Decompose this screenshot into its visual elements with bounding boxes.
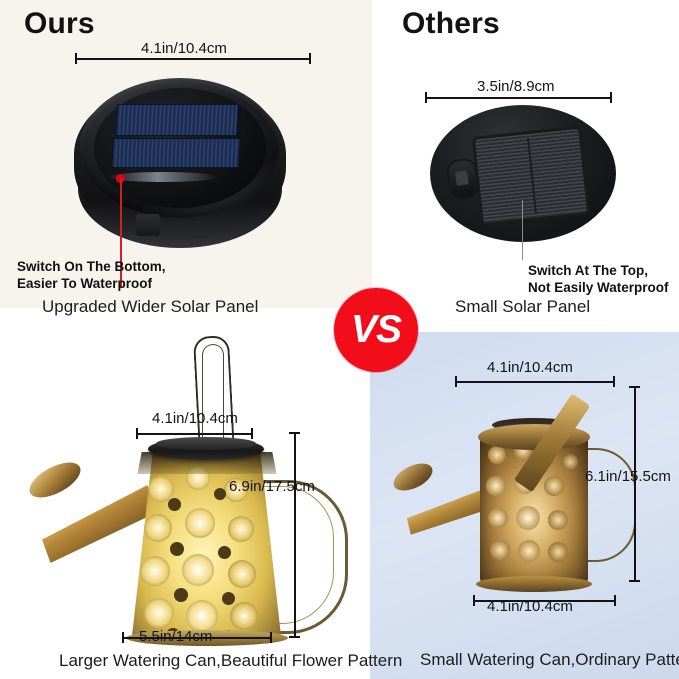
star-cutout	[168, 498, 181, 511]
flower-motif	[140, 556, 170, 586]
heading-ours: Ours	[24, 7, 95, 41]
watering-can-small-base	[476, 576, 592, 592]
callout-text-right-line2: Not Easily Waterproof	[528, 279, 669, 296]
dimension-bar	[75, 58, 311, 60]
dimension-label-can-small-top: 4.1in/10.4cm	[487, 359, 573, 376]
dimension-cap-right	[251, 428, 253, 439]
star-cutout	[170, 542, 184, 556]
callout-text-left-line1: Switch On The Bottom,	[17, 258, 166, 275]
lattice-motif	[490, 540, 510, 560]
heading-others: Others	[402, 7, 500, 41]
dimension-line-can-large-height	[289, 432, 300, 638]
dimension-cap-right	[270, 632, 272, 643]
flower-motif	[230, 602, 258, 630]
comparison-infographic: Ours Others 4.1in/10.4cm Switch On The B…	[0, 0, 679, 679]
flower-motif	[144, 514, 172, 542]
lattice-motif	[488, 446, 506, 464]
dimension-label-can-large-base: 5.5in/14cm	[139, 628, 212, 645]
watering-can-small-spout-head	[389, 458, 436, 496]
lattice-motif	[544, 476, 564, 496]
lattice-motif	[518, 540, 540, 562]
dimension-cap-right	[614, 595, 616, 606]
dimension-line-can-small-top	[455, 376, 615, 387]
lattice-motif	[486, 476, 506, 496]
dimension-cap-right	[613, 376, 615, 387]
lattice-motif	[488, 508, 508, 528]
flower-motif	[144, 598, 174, 628]
caption-upgraded-wider-solar-panel: Upgraded Wider Solar Panel	[42, 297, 258, 317]
lattice-motif	[562, 454, 578, 470]
dimension-label-solar-large-width: 4.1in/10.4cm	[141, 40, 227, 57]
star-cutout	[214, 488, 226, 500]
solar-cell-divider	[527, 138, 537, 214]
dimension-bar	[425, 97, 612, 99]
callout-text-left-line2: Easier To Waterproof	[17, 275, 166, 292]
callout-text-right-line1: Switch At The Top,	[528, 262, 669, 279]
dimension-bar	[294, 432, 296, 638]
solar-panel-large-bottom-notch	[136, 214, 160, 236]
dimension-bar	[455, 381, 615, 383]
watering-can-large-spout-head	[24, 455, 86, 504]
flower-motif	[182, 554, 214, 586]
dimension-cap-bottom	[629, 580, 640, 582]
flower-motif	[228, 516, 254, 542]
flower-motif	[228, 560, 256, 588]
dimension-cap-right	[309, 53, 311, 64]
caption-larger-watering-can: Larger Watering Can,Beautiful Flower Pat…	[59, 651, 402, 671]
dimension-label-can-large-top: 4.1in/10.4cm	[152, 410, 238, 427]
watering-can-small-image	[388, 388, 638, 618]
solar-cell-upper	[115, 104, 239, 136]
dimension-label-can-small-height: 6.1in/15.5cm	[585, 468, 671, 485]
dimension-label-can-small-base: 4.1in/10.4cm	[487, 598, 573, 615]
lattice-motif	[548, 542, 568, 562]
dimension-cap-right	[610, 92, 612, 103]
star-cutout	[218, 546, 231, 559]
lattice-motif	[548, 510, 568, 530]
callout-leader-line-right	[522, 200, 523, 260]
star-cutout	[222, 592, 235, 605]
flower-motif	[185, 508, 215, 538]
caption-small-watering-can: Small Watering Can,Ordinary Pattern	[420, 650, 679, 670]
solar-panel-large-image	[74, 68, 286, 256]
dimension-bar	[136, 433, 253, 435]
solar-cell-lower	[111, 138, 241, 168]
callout-text-left: Switch On The Bottom, Easier To Waterpro…	[17, 258, 166, 293]
star-cutout	[174, 588, 188, 602]
dimension-line-can-large-top	[136, 428, 253, 439]
dimension-label-solar-small-width: 3.5in/8.9cm	[477, 78, 555, 95]
callout-text-right: Switch At The Top, Not Easily Waterproof	[528, 262, 669, 297]
caption-small-solar-panel: Small Solar Panel	[455, 297, 590, 317]
vs-badge-label: VS	[351, 308, 401, 352]
vs-badge: VS	[334, 288, 418, 372]
dimension-cap-bottom	[289, 636, 300, 638]
lattice-motif	[516, 506, 540, 530]
dimension-label-can-large-height: 6.9in/17.5cm	[229, 478, 315, 495]
solar-panel-small-cell	[472, 125, 591, 226]
